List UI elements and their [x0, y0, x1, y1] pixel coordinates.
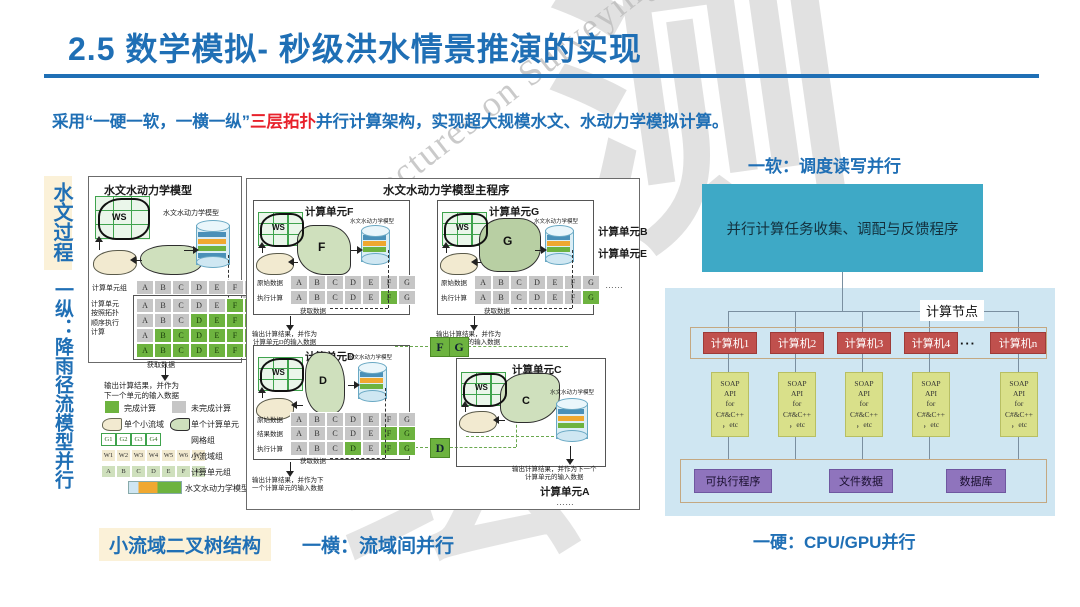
unit-d-row3: A B C D E F G — [290, 441, 416, 456]
cell: A — [290, 441, 308, 456]
cell: F — [380, 290, 398, 305]
unit-c-note-1: 输出计算结果，并作为下一个 — [512, 466, 597, 473]
legend-label-ws-group: 小流域组 — [191, 451, 223, 462]
computer-n: 计算机n — [990, 332, 1046, 354]
cell: E — [208, 313, 226, 328]
soap-link-3 — [862, 352, 863, 372]
soap-link-1 — [728, 352, 729, 372]
unit-f-dash-v — [388, 250, 389, 308]
cell: B — [154, 328, 172, 343]
cell: A — [474, 290, 492, 305]
legend-label-watershed: 单个小流域 — [124, 419, 164, 430]
soap-api-n: SOAP API for C#&C++ ，etc — [1000, 372, 1038, 437]
cell: A — [101, 465, 116, 478]
cell: C — [172, 313, 190, 328]
cell: B — [116, 465, 131, 478]
left-acquire-label: 获取数据 — [147, 360, 175, 370]
subtitle-part-2: 并行计算架构，实现超大规模水文、水动力学模拟计算。 — [316, 113, 729, 131]
unit-c-letter: C — [522, 395, 530, 407]
left-cell-row-4: A B C D E F G — [136, 343, 262, 358]
soap-line-2: API — [724, 389, 736, 399]
hard-title: 一硬：CPU/GPU并行 — [753, 528, 915, 553]
cell: F — [380, 441, 398, 456]
soap-link-2 — [795, 352, 796, 372]
left-exec-label: 计算单元按照拓扑顺序执行计算 — [91, 300, 119, 338]
soap-api-4: SOAP API for C#&C++ ，etc — [912, 372, 950, 437]
unit-d-dash-h — [330, 458, 385, 459]
cell: A — [290, 290, 308, 305]
side-label-b: 计算单元B — [598, 224, 648, 239]
subtitle-part-1: 采用“一硬一软，一横一纵” — [52, 113, 250, 131]
unit-f-dash-h — [330, 308, 388, 309]
res-link-3 — [862, 435, 863, 459]
cell: E — [546, 290, 564, 305]
node-f: F — [430, 337, 450, 357]
left-row-label: 计算单元组 — [92, 283, 127, 293]
soap-link-4 — [929, 352, 930, 372]
sidebar-vertical-label: 一纵：降雨径流模型并行 — [44, 280, 72, 489]
node-group-label: 计算节点 — [920, 300, 984, 321]
cell: W6 — [176, 449, 191, 462]
cell: D — [190, 328, 208, 343]
unit-c-note-2: 计算单元的输入数据 — [525, 474, 584, 481]
sidebar-process-box: 水文过程 — [44, 176, 72, 270]
cell: C — [172, 343, 190, 358]
node-d: D — [430, 438, 450, 458]
left-cell-row-1: A B C D E F G — [136, 298, 262, 313]
page-title: 2.5 数学模拟- 秒级洪水情景推演的实现 — [68, 24, 642, 70]
computer-1: 计算机1 — [703, 332, 757, 354]
unit-f-arrow-left-head — [288, 258, 294, 266]
soap-line-1: SOAP — [787, 379, 806, 389]
subtitle-highlight: 三层拓扑 — [250, 113, 316, 131]
cell: G1 — [101, 433, 116, 446]
unit-g-ws-label: WS — [456, 223, 469, 232]
cell: F — [176, 465, 191, 478]
cell: E — [208, 328, 226, 343]
unit-d-row3-label: 执行计算 — [257, 443, 283, 453]
cell: D — [190, 280, 208, 295]
side-ellipsis: …… — [605, 280, 623, 290]
caption-cross: 一横：流域间并行 — [302, 531, 454, 558]
unit-a-ellipsis: …… — [556, 497, 574, 507]
soap-line-3: for — [927, 399, 936, 409]
cell: C — [172, 328, 190, 343]
cell: D — [146, 465, 161, 478]
left-output-note-1: 输出计算结果，并作为 — [104, 381, 179, 390]
title-divider — [44, 74, 1039, 78]
scheduler-to-nodes-connector — [842, 272, 843, 311]
cell: D — [190, 343, 208, 358]
cell: B — [154, 343, 172, 358]
left-cell-row-3: A B C D E F G — [136, 328, 262, 343]
unit-d-note-2: 一个计算单元的输入数据 — [252, 485, 324, 492]
cell: A — [136, 298, 154, 313]
unit-c-out-arrow-head — [566, 459, 574, 465]
cell: E — [362, 290, 380, 305]
soap-line-4: C#&C++ — [1005, 410, 1033, 420]
computer-3: 计算机3 — [837, 332, 891, 354]
cell: W3 — [131, 449, 146, 462]
cell: B — [308, 412, 326, 427]
soap-line-2: API — [925, 389, 937, 399]
soap-line-1: SOAP — [921, 379, 940, 389]
unit-f-row2: A B C D E F G — [290, 290, 416, 305]
computer-2: 计算机2 — [770, 332, 824, 354]
cell: F — [226, 328, 244, 343]
cell: B — [154, 313, 172, 328]
cell: E — [362, 412, 380, 427]
unit-f-ws-label: WS — [272, 223, 285, 232]
unit-f-db — [361, 225, 388, 265]
cell: F — [380, 426, 398, 441]
unit-f-row1-label: 原始数据 — [257, 277, 283, 287]
soap-link-5 — [1018, 352, 1019, 372]
legend-label-pending: 未完成计算 — [191, 403, 231, 414]
cell: G — [398, 275, 416, 290]
unit-d-model-label: 水文水动力学模型 — [348, 353, 392, 361]
cell: A — [290, 275, 308, 290]
cell: G — [398, 426, 416, 441]
res-link-5 — [1018, 435, 1019, 459]
unit-g-letter: G — [503, 234, 512, 248]
cell: A — [136, 313, 154, 328]
vertical-sidebar: 水文过程 一纵：降雨径流模型并行 — [36, 176, 80, 489]
unit-g-title: 计算单元G — [489, 204, 539, 219]
legend-label-done: 完成计算 — [124, 403, 156, 414]
node-fg-link-right — [468, 346, 568, 347]
cell: G — [398, 290, 416, 305]
cell: E — [362, 441, 380, 456]
cell: F — [564, 290, 582, 305]
unit-g-dash-h — [514, 308, 572, 309]
cell: A — [136, 328, 154, 343]
unit-d-db — [358, 362, 385, 402]
caption-binary-tree: 小流域二叉树结构 — [99, 528, 271, 561]
cell: B — [154, 280, 172, 295]
left-arrow-db-head — [193, 246, 199, 254]
unit-f-model-label: 水文水动力学模型 — [350, 217, 394, 225]
unit-d-arrow-db-head — [354, 381, 360, 389]
unit-d-ws-label: WS — [272, 368, 285, 377]
unit-d-row1-label: 原始数据 — [257, 414, 283, 424]
cell: B — [492, 275, 510, 290]
unit-g-row1: A B C D E F G — [474, 275, 600, 290]
unit-c-tan — [459, 411, 497, 433]
unit-c-arrow-left-head — [493, 416, 499, 424]
soap-line-5: ，etc — [856, 420, 872, 430]
unit-d-row2-label: 结果数据 — [257, 428, 283, 438]
unit-g-acquire: 获取数据 — [484, 305, 510, 315]
unit-d-note-1: 输出计算结果，并作为下 — [252, 477, 324, 484]
cell: C — [326, 426, 344, 441]
legend-swatch-pending — [172, 401, 186, 413]
resource-database: 数据库 — [946, 469, 1006, 493]
cell: E — [161, 465, 176, 478]
cell: F — [226, 280, 244, 295]
cell: W1 — [101, 449, 116, 462]
legend-label-unit-group: 计算单元组 — [191, 467, 231, 478]
cell: G — [398, 412, 416, 427]
left-cell-row-2: A B C D E F G — [136, 313, 262, 328]
left-ws-label: WS — [112, 212, 127, 222]
unit-g-db — [545, 225, 572, 265]
unit-f-title: 计算单元F — [305, 204, 353, 219]
soap-line-5: ，etc — [1011, 420, 1027, 430]
cell: F — [564, 275, 582, 290]
soap-line-4: C#&C++ — [716, 410, 744, 420]
res-link-1 — [728, 435, 729, 459]
cell: C — [326, 290, 344, 305]
cell: B — [308, 426, 326, 441]
cell: D — [344, 441, 362, 456]
soap-line-5: ，etc — [722, 420, 738, 430]
cell: B — [308, 290, 326, 305]
unit-f-letter: F — [318, 240, 325, 254]
soap-api-1: SOAP API for C#&C++ ，etc — [711, 372, 749, 437]
scheduler-label: 并行计算任务收集、调配与反馈程序 — [727, 218, 959, 239]
soap-line-3: for — [793, 399, 802, 409]
cell: G — [398, 441, 416, 456]
soap-line-2: API — [791, 389, 803, 399]
unit-c-out-arrow — [570, 446, 571, 460]
unit-c-dash-to-db — [466, 436, 554, 437]
node-g: G — [449, 337, 469, 357]
soap-line-3: for — [726, 399, 735, 409]
unit-c-ws-label: WS — [475, 383, 488, 392]
cell: B — [308, 441, 326, 456]
cell: G — [582, 290, 600, 305]
cell: D — [528, 275, 546, 290]
cell: W5 — [161, 449, 176, 462]
soap-line-2: API — [1013, 389, 1025, 399]
unit-f-row1: A B C D E F G — [290, 275, 416, 290]
unit-c-model-label: 水文水动力学模型 — [550, 388, 594, 396]
cell: E — [208, 343, 226, 358]
cell: C — [326, 412, 344, 427]
cell: D — [344, 290, 362, 305]
unit-c-db — [556, 398, 586, 442]
cell: C — [326, 441, 344, 456]
cell: G3 — [131, 433, 146, 446]
computers-ellipsis: ··· — [960, 336, 976, 351]
soap-line-1: SOAP — [854, 379, 873, 389]
unit-d-arrow-left-head — [291, 401, 297, 409]
cell: A — [290, 426, 308, 441]
left-arrow-left-head — [130, 256, 136, 264]
unit-d-row2: A B C D E F G — [290, 426, 416, 441]
cell: D — [190, 298, 208, 313]
soap-line-1: SOAP — [1009, 379, 1028, 389]
unit-g-arrow-left-head — [471, 258, 477, 266]
legend-swatch-unit — [170, 418, 190, 431]
soap-line-5: ，etc — [923, 420, 939, 430]
soap-line-5: ，etc — [789, 420, 805, 430]
computer-4: 计算机4 — [904, 332, 958, 354]
legend-label-grid-group: 网格组 — [191, 435, 215, 446]
res-link-4 — [929, 435, 930, 459]
cell: A — [136, 343, 154, 358]
cell: F — [226, 313, 244, 328]
cell: W2 — [116, 449, 131, 462]
page-subtitle: 采用“一硬一软，一横一纵”三层拓扑并行计算架构，实现超大规模水文、水动力学模拟计… — [52, 108, 729, 132]
resource-file-data: 文件数据 — [829, 469, 893, 493]
left-cell-row-header: A B C D E F G — [136, 280, 262, 295]
soap-line-3: for — [1015, 399, 1024, 409]
soft-title: 一软：调度读写并行 — [748, 152, 901, 177]
unit-g-arrow-db-head — [541, 246, 547, 254]
unit-d-note: 输出计算结果，并作为下 一个计算单元的输入数据 — [252, 477, 324, 494]
cell: B — [308, 275, 326, 290]
cell: E — [208, 280, 226, 295]
cell: C — [510, 290, 528, 305]
cell: C — [172, 298, 190, 313]
unit-f-acquire: 获取数据 — [300, 305, 326, 315]
unit-g-row2-label: 执行计算 — [441, 292, 467, 302]
legend-label-unit: 单个计算单元 — [191, 419, 239, 430]
legend-grid-group: G1 G2 G3 G4 — [101, 433, 161, 446]
cell: E — [208, 298, 226, 313]
resource-executable: 可执行程序 — [694, 469, 772, 493]
soap-api-2: SOAP API for C#&C++ ，etc — [778, 372, 816, 437]
unit-d-row1: A B C D E F G — [290, 412, 416, 427]
soap-line-1: SOAP — [720, 379, 739, 389]
cell: C — [172, 280, 190, 295]
soap-api-3: SOAP API for C#&C++ ，etc — [845, 372, 883, 437]
cell: D — [344, 426, 362, 441]
cell: D — [344, 412, 362, 427]
cell: D — [528, 290, 546, 305]
cell: D — [344, 275, 362, 290]
unit-f-note-1: 输出计算结果，并作为 — [252, 331, 317, 338]
cell: W4 — [146, 449, 161, 462]
left-db-cylinder — [196, 220, 228, 268]
cell: G2 — [116, 433, 131, 446]
cell: C — [131, 465, 146, 478]
slide-root: 测 绘 High-level Lectures on Surveying and… — [0, 0, 1080, 607]
side-label-e: 计算单元E — [598, 246, 647, 261]
cell: B — [154, 298, 172, 313]
left-output-note-2: 下一个单元的输入数据 — [104, 391, 179, 400]
soap-line-2: API — [858, 389, 870, 399]
unit-d-letter: D — [319, 375, 327, 387]
unit-c-note: 输出计算结果，并作为下一个 计算单元的输入数据 — [512, 466, 597, 483]
res-link-2 — [795, 435, 796, 459]
soap-line-4: C#&C++ — [917, 410, 945, 420]
cell: D — [190, 313, 208, 328]
cell: A — [290, 412, 308, 427]
cell: C — [326, 275, 344, 290]
unit-f-arrow-db-head — [357, 246, 363, 254]
unit-g-dash-v — [572, 250, 573, 308]
cell: F — [226, 343, 244, 358]
cell: E — [362, 275, 380, 290]
unit-f-row2-label: 执行计算 — [257, 292, 283, 302]
cell: A — [136, 280, 154, 295]
cell: A — [474, 275, 492, 290]
legend-swatch-model — [128, 481, 182, 494]
cell: C — [510, 275, 528, 290]
left-arrow-up-head — [95, 236, 103, 242]
cell: G — [582, 275, 600, 290]
unit-g-row2: A B C D E F G — [474, 290, 600, 305]
cell: F — [380, 412, 398, 427]
cell: F — [226, 298, 244, 313]
unit-g-row1-label: 原始数据 — [441, 277, 467, 287]
cell: B — [492, 290, 510, 305]
legend-swatch-done — [105, 401, 119, 413]
left-model-label: 水文水动力学模型 — [163, 208, 219, 218]
center-panel-title: 水文水动力学模型主程序 — [383, 182, 510, 198]
soap-line-3: for — [860, 399, 869, 409]
scheduler-box: 并行计算任务收集、调配与反馈程序 — [702, 184, 983, 272]
legend-label-model: 水文水动力学模型 — [185, 483, 249, 494]
cell: E — [546, 275, 564, 290]
legend-swatch-watershed — [102, 418, 122, 431]
cell: E — [362, 426, 380, 441]
unit-d-acquire: 获取数据 — [300, 455, 326, 465]
cell: G4 — [146, 433, 161, 446]
unit-g-model-label: 水文水动力学模型 — [534, 217, 578, 225]
soap-line-4: C#&C++ — [783, 410, 811, 420]
cell: F — [380, 275, 398, 290]
left-output-note: 输出计算结果，并作为 下一个单元的输入数据 — [104, 381, 179, 401]
soap-line-4: C#&C++ — [850, 410, 878, 420]
unit-d-dash-v — [385, 388, 386, 458]
